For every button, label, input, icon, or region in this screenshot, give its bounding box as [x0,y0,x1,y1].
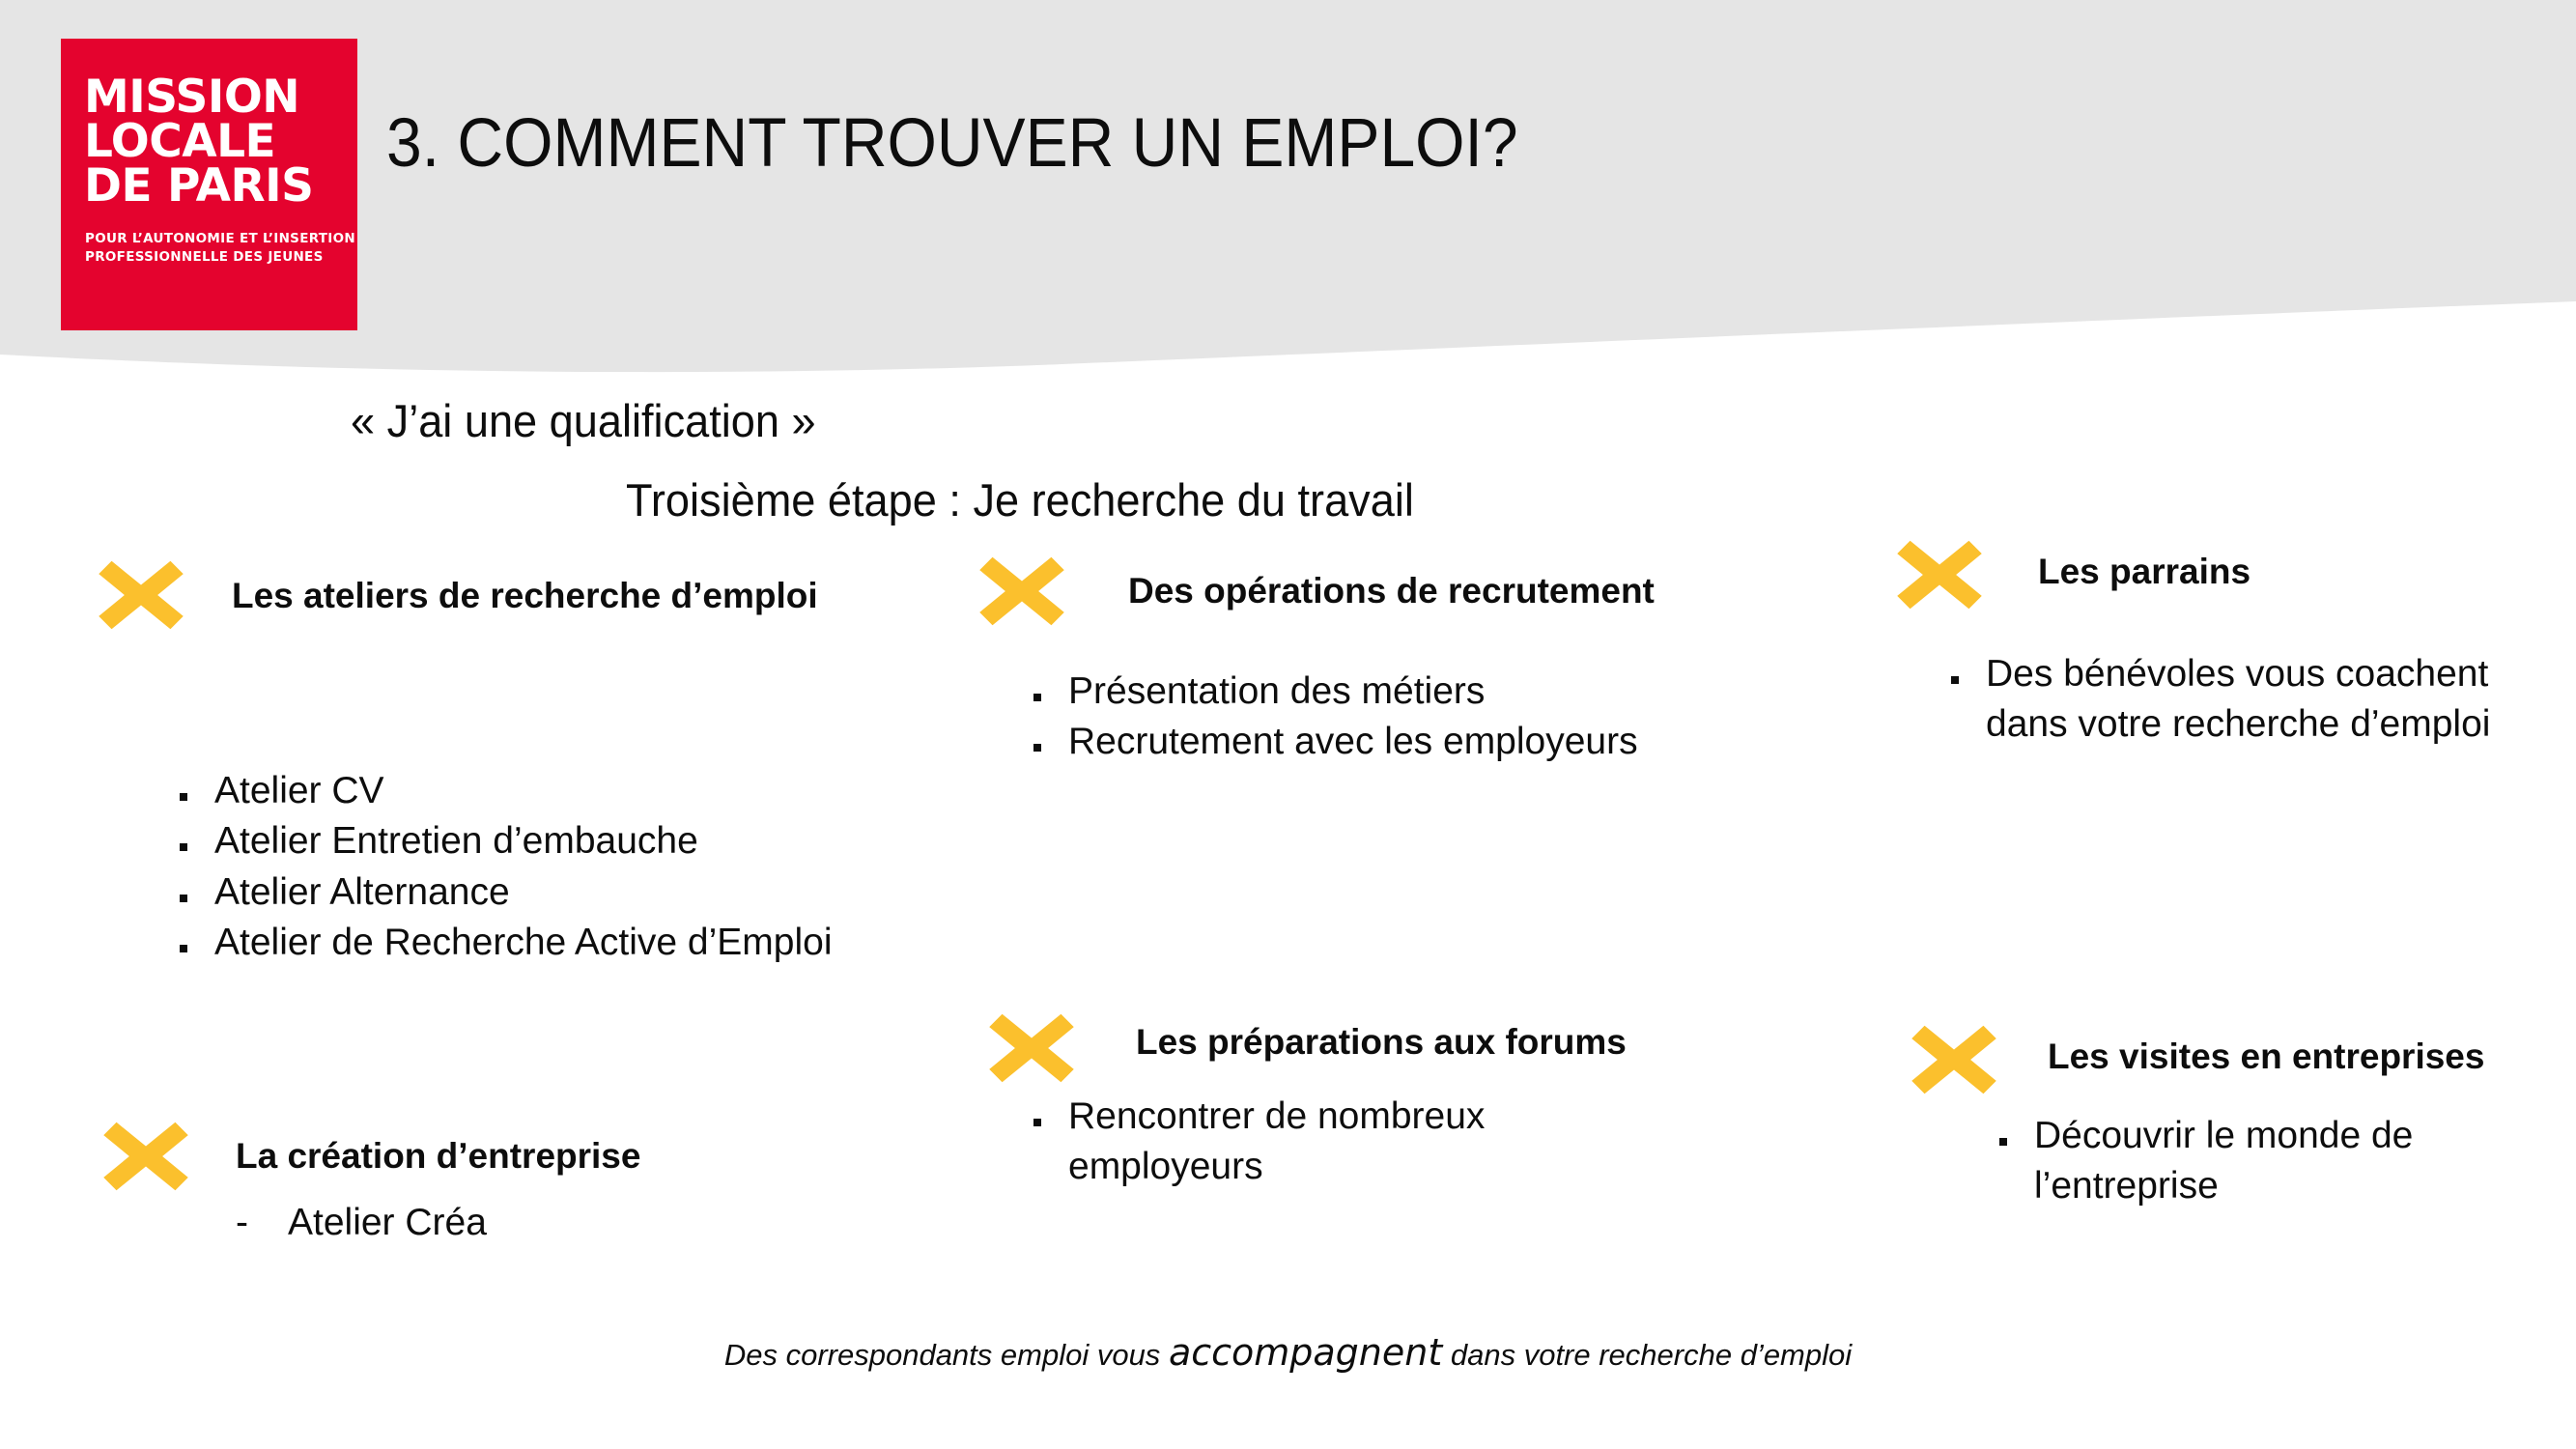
x-mark-icon [1893,537,1986,612]
list-item: Rencontrer de nombreux employeurs [1024,1092,1642,1193]
bullet-list-parrains: Des bénévoles vous coachent dans votre r… [1941,649,2502,751]
footer-part-1: Des correspondants emploi vous [724,1338,1169,1372]
list-item-label: Des bénévoles vous coachent dans votre r… [1986,649,2502,751]
dash-marker: - [236,1198,288,1248]
bullet-dot-icon [1024,717,1068,767]
x-mark-icon [99,1119,192,1194]
bullet-dot-icon [1990,1111,2034,1161]
block-heading-operations: Des opérations de recrutement [1128,568,1824,615]
logo-line-2: LOCALE [61,120,357,164]
bullet-dot-icon [1024,1092,1068,1142]
header-band [0,0,2576,386]
page-title: 3. COMMENT TROUVER UN EMPLOI? [386,108,1518,181]
list-item-label: Rencontrer de nombreux employeurs [1068,1092,1642,1193]
subtitle-line-1: « J’ai une qualification » [351,394,816,447]
footer-emphasis: accompagnent [1169,1331,1442,1374]
list-item: Atelier Alternance [170,867,904,918]
bullet-dot-icon [1024,667,1068,717]
footer-note: Des correspondants emploi vous accompagn… [0,1331,2576,1374]
logo-tagline-1: POUR L’AUTONOMIE ET L’INSERTION [61,209,357,248]
list-item-label: Présentation des métiers [1068,667,1681,717]
bullet-dot-icon [1941,649,1986,699]
bullet-list-ateliers: Atelier CV Atelier Entretien d’embauche … [170,766,904,968]
bullet-list-preparations: Rencontrer de nombreux employeurs [1024,1092,1642,1193]
list-item-label: Atelier Entretien d’embauche [214,816,904,867]
x-mark-icon [985,1010,1078,1086]
list-item-label: Atelier CV [214,766,904,816]
list-item-label: Atelier Alternance [214,867,904,918]
bullet-list-visites: Découvrir le monde de l’entreprise [1990,1111,2492,1212]
logo-line-3: DE PARIS [61,164,357,209]
subtitle-line-2: Troisième étape : Je recherche du travai… [626,473,1414,526]
list-item-label: Découvrir le monde de l’entreprise [2034,1111,2492,1212]
bullet-dot-icon [170,766,214,816]
list-item: - Atelier Créa [236,1198,835,1248]
block-heading-visites: Les visites en entreprises [2048,1034,2576,1081]
block-heading-preparations: Les préparations aux forums [1136,1019,1851,1066]
dash-list-creation: - Atelier Créa [236,1198,835,1248]
footer-part-2: dans votre recherche d’emploi [1442,1338,1852,1372]
logo-tagline-2: PROFESSIONNELLE DES JEUNES [61,248,357,267]
x-mark-icon [976,554,1068,629]
bullet-dot-icon [170,918,214,968]
block-heading-parrains: Les parrains [2038,549,2540,596]
list-item: Atelier CV [170,766,904,816]
block-heading-creation: La création d’entreprise [236,1133,835,1180]
bullet-list-operations: Présentation des métiers Recrutement ave… [1024,667,1681,768]
bullet-dot-icon [170,867,214,918]
list-item: Présentation des métiers [1024,667,1681,717]
mission-locale-logo: MISSION LOCALE DE PARIS POUR L’AUTONOMIE… [61,39,357,330]
list-item-label: Recrutement avec les employeurs [1068,717,1681,767]
list-item: Atelier Entretien d’embauche [170,816,904,867]
list-item: Des bénévoles vous coachent dans votre r… [1941,649,2502,751]
x-mark-icon [1908,1022,2000,1097]
list-item-label: Atelier Créa [288,1198,835,1248]
bullet-dot-icon [170,816,214,867]
list-item: Découvrir le monde de l’entreprise [1990,1111,2492,1212]
x-mark-icon [95,557,187,633]
list-item-label: Atelier de Recherche Active d’Emploi [214,918,904,968]
block-heading-ateliers: Les ateliers de recherche d’emploi [232,573,831,620]
list-item: Recrutement avec les employeurs [1024,717,1681,767]
logo-line-1: MISSION [61,75,357,120]
slide-canvas: MISSION LOCALE DE PARIS POUR L’AUTONOMIE… [0,0,2576,1449]
list-item: Atelier de Recherche Active d’Emploi [170,918,904,968]
